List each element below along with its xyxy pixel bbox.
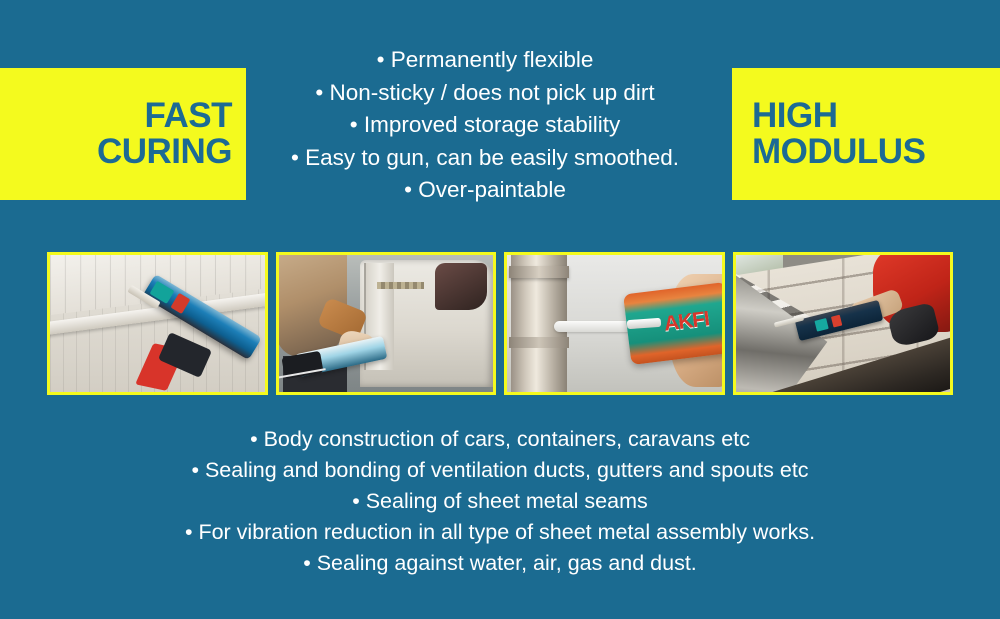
photo-car-body-sealing bbox=[276, 252, 497, 395]
badge-fast-curing: FAST CURING bbox=[0, 68, 246, 200]
feature-item: • Easy to gun, can be easily smoothed. bbox=[250, 142, 720, 175]
feature-item: • Improved storage stability bbox=[250, 109, 720, 142]
photo-gutter-sealing bbox=[733, 252, 954, 395]
photo-strip: AKFI bbox=[47, 252, 953, 395]
badge-high-modulus: HIGH MODULUS bbox=[732, 68, 1000, 200]
photo-white-panel-sealing bbox=[47, 252, 268, 395]
applications-list: • Body construction of cars, containers,… bbox=[80, 424, 920, 579]
photo-pipe-sealing: AKFI bbox=[504, 252, 725, 395]
product-feature-poster: FAST CURING HIGH MODULUS • Permanently f… bbox=[0, 0, 1000, 619]
application-item: • Sealing of sheet metal seams bbox=[80, 486, 920, 517]
feature-item: • Permanently flexible bbox=[250, 44, 720, 77]
application-item: • Body construction of cars, containers,… bbox=[80, 424, 920, 455]
features-list: • Permanently flexible • Non-sticky / do… bbox=[250, 44, 720, 207]
badge-fast-curing-label: FAST CURING bbox=[97, 98, 232, 169]
pipe-collar-lower bbox=[509, 337, 569, 348]
photo-pipe-sealing-content: AKFI bbox=[507, 255, 722, 392]
application-item: • Sealing and bonding of ventilation duc… bbox=[80, 455, 920, 486]
badge-high-modulus-label: HIGH MODULUS bbox=[752, 98, 925, 169]
feature-item: • Non-sticky / does not pick up dirt bbox=[250, 77, 720, 110]
photo-gutter-sealing-content bbox=[736, 255, 951, 392]
sealed-seam bbox=[377, 282, 424, 289]
photo-white-panel-sealing-content bbox=[50, 255, 265, 392]
akfix-brand-label: AKFI bbox=[662, 307, 710, 336]
photo-car-body-sealing-content bbox=[279, 255, 494, 392]
car-window-opening bbox=[435, 263, 486, 310]
feature-item: • Over-paintable bbox=[250, 174, 720, 207]
application-item: • Sealing against water, air, gas and du… bbox=[80, 548, 920, 579]
application-item: • For vibration reduction in all type of… bbox=[80, 517, 920, 548]
pipe-collar-upper bbox=[509, 266, 569, 278]
